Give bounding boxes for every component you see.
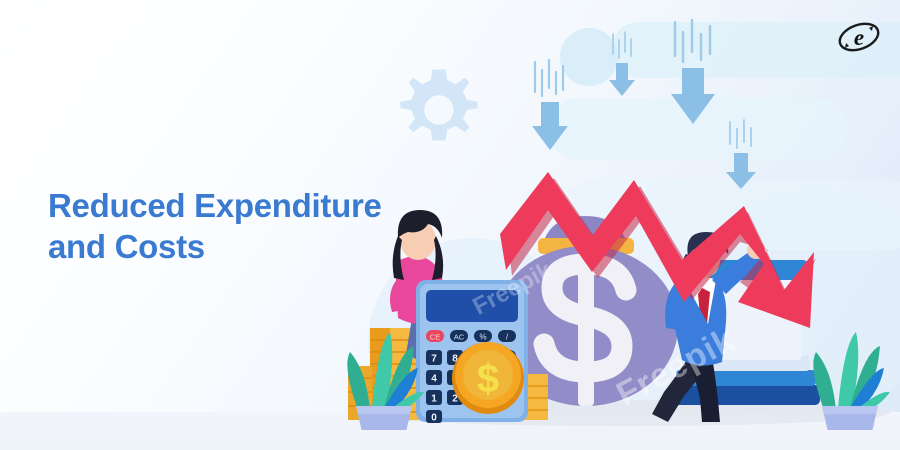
key-0[interactable]: 0 [431, 413, 437, 424]
e-logo-icon[interactable]: e [836, 14, 882, 60]
logo-letter: e [854, 25, 864, 50]
calculator-display [426, 290, 518, 322]
plant-right [813, 332, 890, 430]
banner: e [0, 0, 900, 450]
key-ac[interactable]: AC [454, 333, 465, 342]
gold-coin: $ [452, 342, 524, 414]
fall-arrow-3 [665, 18, 721, 128]
fall-arrow-2 [606, 30, 638, 100]
key-1[interactable]: 1 [431, 394, 437, 405]
key-percent[interactable]: % [479, 333, 486, 342]
cost-reduction-illustration: CE AC % / X 7 8 9 4 5 [340, 130, 900, 430]
key-4[interactable]: 4 [431, 374, 437, 385]
key-ce[interactable]: CE [430, 333, 440, 342]
coin-dollar-symbol: $ [477, 357, 499, 401]
key-7[interactable]: 7 [431, 354, 437, 365]
